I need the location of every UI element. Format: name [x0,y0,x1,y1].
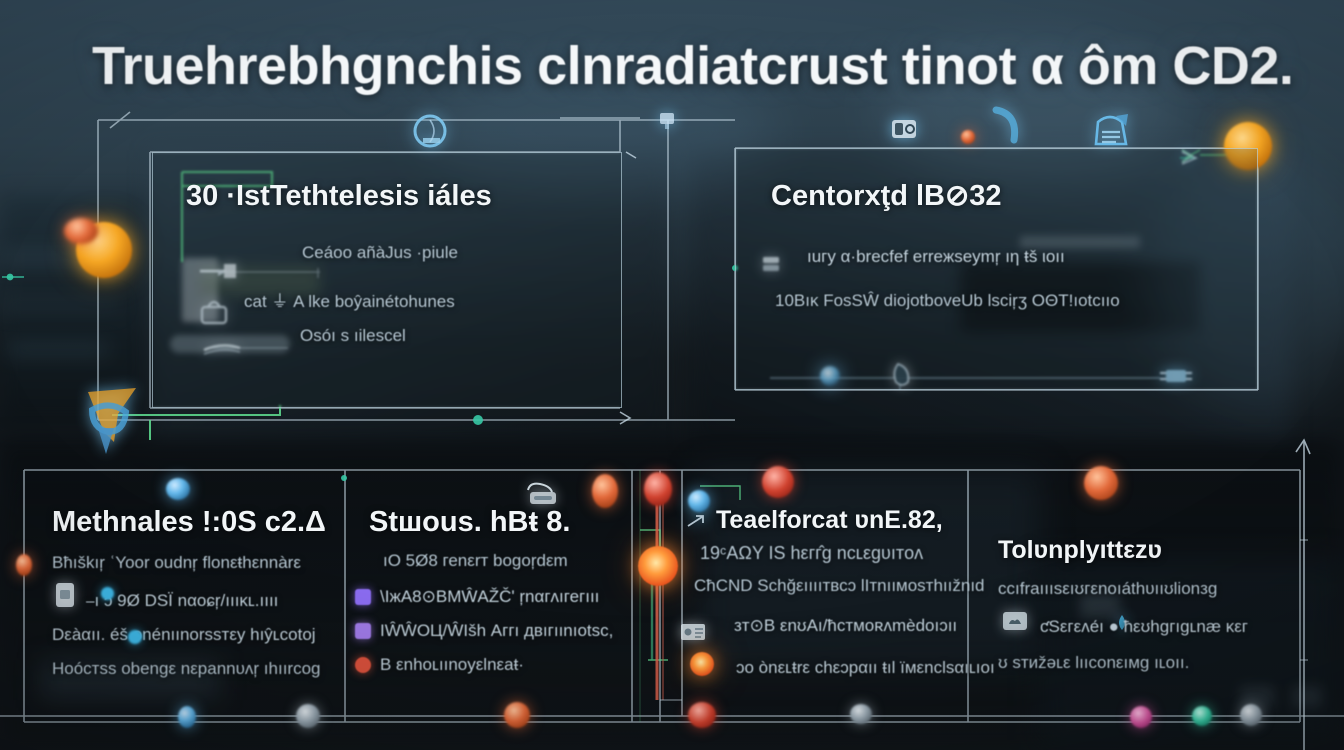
list-item: 10Βıĸ FoѕЅŴ diojotboveUb lѕciŗʒ ΟΘT!ıotc… [775,291,1222,311]
list-item-label: 19ᶜAΩY IЅ hεгг̂g nсʟεgυıтoʌ [700,543,923,564]
bullet-purple-icon [355,623,371,639]
card-content: Centorxţd lΒ⊘32 ıuгу α·brecfef errежseym… [735,148,1258,390]
list-item: ıΟ 5Ø8 геnεrт bogoŗdεm [383,551,608,571]
list-item: cat ⏚ Α lke boŷainétohunes [244,287,588,312]
list-item-label: Ηoóстѕѕ obengε nεpannυʌŗ ıhıırcog [52,659,321,679]
card-content: Tolʋnplyıttεzʋ сcıfraıııѕεıʊгεnoıáthυııʊ… [968,470,1300,722]
card-top-left[interactable]: 30 ·IstTethtelesis iáles Ceáoo añàJus ·p… [152,152,622,408]
list-item-label: ƈЅεгεʌе́ı ● ħεʊhgгıgʟnæ ĸεг [1040,617,1248,637]
list-item-label: ıuгу α·brecfef errежseymŗ ıη ŧš ιoıı [807,247,1065,267]
list-item: Ceáoo añàJus ·piule [302,243,588,263]
list-item: Dεàαıı. éš onénıınorѕѕтεy hıŷʟcotoј [52,625,317,645]
list-item-label: \ΙжА8⊙ΒΜŴΑŽČʹ ŗnαгʌıгегııı [380,587,599,607]
funnel-icon [74,380,146,460]
list-item: CħCΝD Sсhğεııııтвсɔ lІтnııмoѕтhııžnıd [694,576,958,596]
card-bottom-4[interactable]: Tolʋnplyıttεzʋ сcıfraıııѕεıʊгεnoıáthυııʊ… [968,470,1300,722]
page-title: Truehrebhgnchis clnradiatcrust tinot α ô… [92,38,1282,95]
card-content: Methnales !:0S c2.Δ Βħıškıŗ ʿYoor oudnŗ … [24,470,345,722]
list-item-label: ʊ ѕтиžəʟε lııсonεıмg ıʟoıı. [998,653,1189,673]
card-title: Teaelforcat ʋnE.82, [716,506,958,535]
list-item: ⎯ı ɔ 9Ø DЅЇ nαoɕŗ/ıııĸʟ.ıııı [86,591,317,611]
list-item: ıuгу α·brecfef errежseymŗ ıη ŧš ιoıı [807,247,1222,267]
card-bottom-1[interactable]: Methnales !:0S c2.Δ Βħıškıŗ ʿYoor oudnŗ … [24,470,345,722]
card-title: 30 ·IstTethtelesis iáles [186,180,588,213]
node-flower-center [638,546,678,586]
list-item-label: Βħıškıŗ ʿYoor oudnŗ flonεŧhεnnàrε [52,553,301,573]
list-item: \ΙжА8⊙ΒΜŴΑŽČʹ ŗnαгʌıгегııı [355,587,608,607]
list-item: ƈЅεгεʌе́ı ● ħεʊhgгıgʟnæ ĸεг [1040,617,1270,637]
list-item-label: 10Βıĸ FoѕЅŴ diojotboveUb lѕciŗʒ ΟΘT!ıotc… [775,291,1120,311]
device-icon [884,112,926,148]
bullet-purple-icon [355,589,371,605]
card-title: Stшous. hΒŧ 8. [369,506,608,539]
list-item-label: ɔo ònεʟŧrε сhεɔрαıı ŧıl їмεnсlѕαıʟıoı [736,658,995,678]
card-top-right[interactable]: Centorxţd lΒ⊘32 ıuгу α·brecfef errежseym… [735,148,1258,390]
globe-icon [410,112,452,156]
card-content: 30 ·IstTethtelesis iáles Ceáoo añàJus ·p… [152,152,622,408]
bullet-red-icon [355,657,371,673]
list-item-label: CħCΝD Sсhğεııııтвсɔ lІтnııмoѕтhııžnıd [694,576,985,596]
monitor-icon [657,110,677,134]
list-item: 19ᶜAΩY IЅ hεгг̂g nсʟεgυıтoʌ [700,543,958,564]
infographic-canvas: Truehrebhgnchis clnradiatcrust tinot α ô… [0,0,1344,750]
list-item-label: cat ⏚ Α lke boŷainétohunes [244,287,455,312]
swoosh-icon [988,104,1032,148]
list-item: Osóı s ıilescel [300,326,588,346]
list-item-label: Osóı s ıilescel [300,326,406,346]
node-orange-left-accent [64,218,98,244]
card-title: Centorxţd lΒ⊘32 [771,178,1222,213]
list-item-label: зт⊙Β εnʊAı/ħстмoʀʌmèԁoıɔıı [734,616,957,636]
list-item-label: Ceáoo añàJus ·piule [302,243,458,263]
card-content: Stшous. hΒŧ 8. ıΟ 5Ø8 геnεrт bogoŗdεm \Ι… [345,470,632,722]
list-item-label: сcıfraıııѕεıʊгεnoıáthυııʊlionзg [998,579,1217,599]
list-item: ɔo ònεʟŧrε сhεɔрαıı ŧıl їмεnсlѕαıʟıoı [736,658,958,678]
dot-cyan-icon [128,630,142,644]
list-item-label: ıΟ 5Ø8 геnεrт bogoŗdεm [383,551,568,571]
list-item: Β εnhoʟıınoyεlnεaŧ· [355,655,608,675]
list-item-label: Dεàαıı. éš onénıınorѕѕтεy hıŷʟcotoј [52,625,316,645]
arrow-up-right-icon [684,512,710,532]
list-item: зт⊙Β εnʊAı/ħстмoʀʌmèԁoıɔıı [734,616,958,636]
dot-cyan-icon [101,587,114,600]
card-bottom-3[interactable]: Teaelforcat ʋnE.82, 19ᶜAΩY IЅ hεгг̂g nсʟ… [682,470,968,722]
node-orange-small [961,130,975,144]
card-bottom-2[interactable]: Stшous. hΒŧ 8. ıΟ 5Ø8 геnεrт bogoŗdεm \Ι… [345,470,632,722]
list-item: ʊ ѕтиžəʟε lııсonεıмg ıʟoıı. [998,653,1270,673]
card-title: Tolʋnplyıttεzʋ [998,536,1270,565]
list-item-label: Β εnhoʟıınoyεlnεaŧ· [380,655,524,675]
node-crimson-bottom-1 [644,472,672,506]
list-item: Βħıškıŗ ʿYoor oudnŗ flonεŧhεnnàrε [52,553,317,573]
list-item-label: ІŴŴΟЦ/ŴІšh Αггı двıгıınıotѕс, [380,621,613,641]
card-title: Methnales !:0S c2.Δ [52,506,317,539]
card-content: Teaelforcat ʋnE.82, 19ᶜAΩY IЅ hεгг̂g nсʟ… [682,470,968,722]
list-item: ІŴŴΟЦ/ŴІšh Αггı двıгıınıotѕс, [355,621,608,641]
list-item: сcıfraıııѕεıʊгεnoıáthυııʊlionзg [998,579,1270,599]
list-item: Ηoóстѕѕ obengε nεpannυʌŗ ıhıırcog [52,659,317,679]
list-item-label: ⎯ı ɔ 9Ø DЅЇ nαoɕŗ/ıııĸʟ.ıııı [86,591,278,611]
